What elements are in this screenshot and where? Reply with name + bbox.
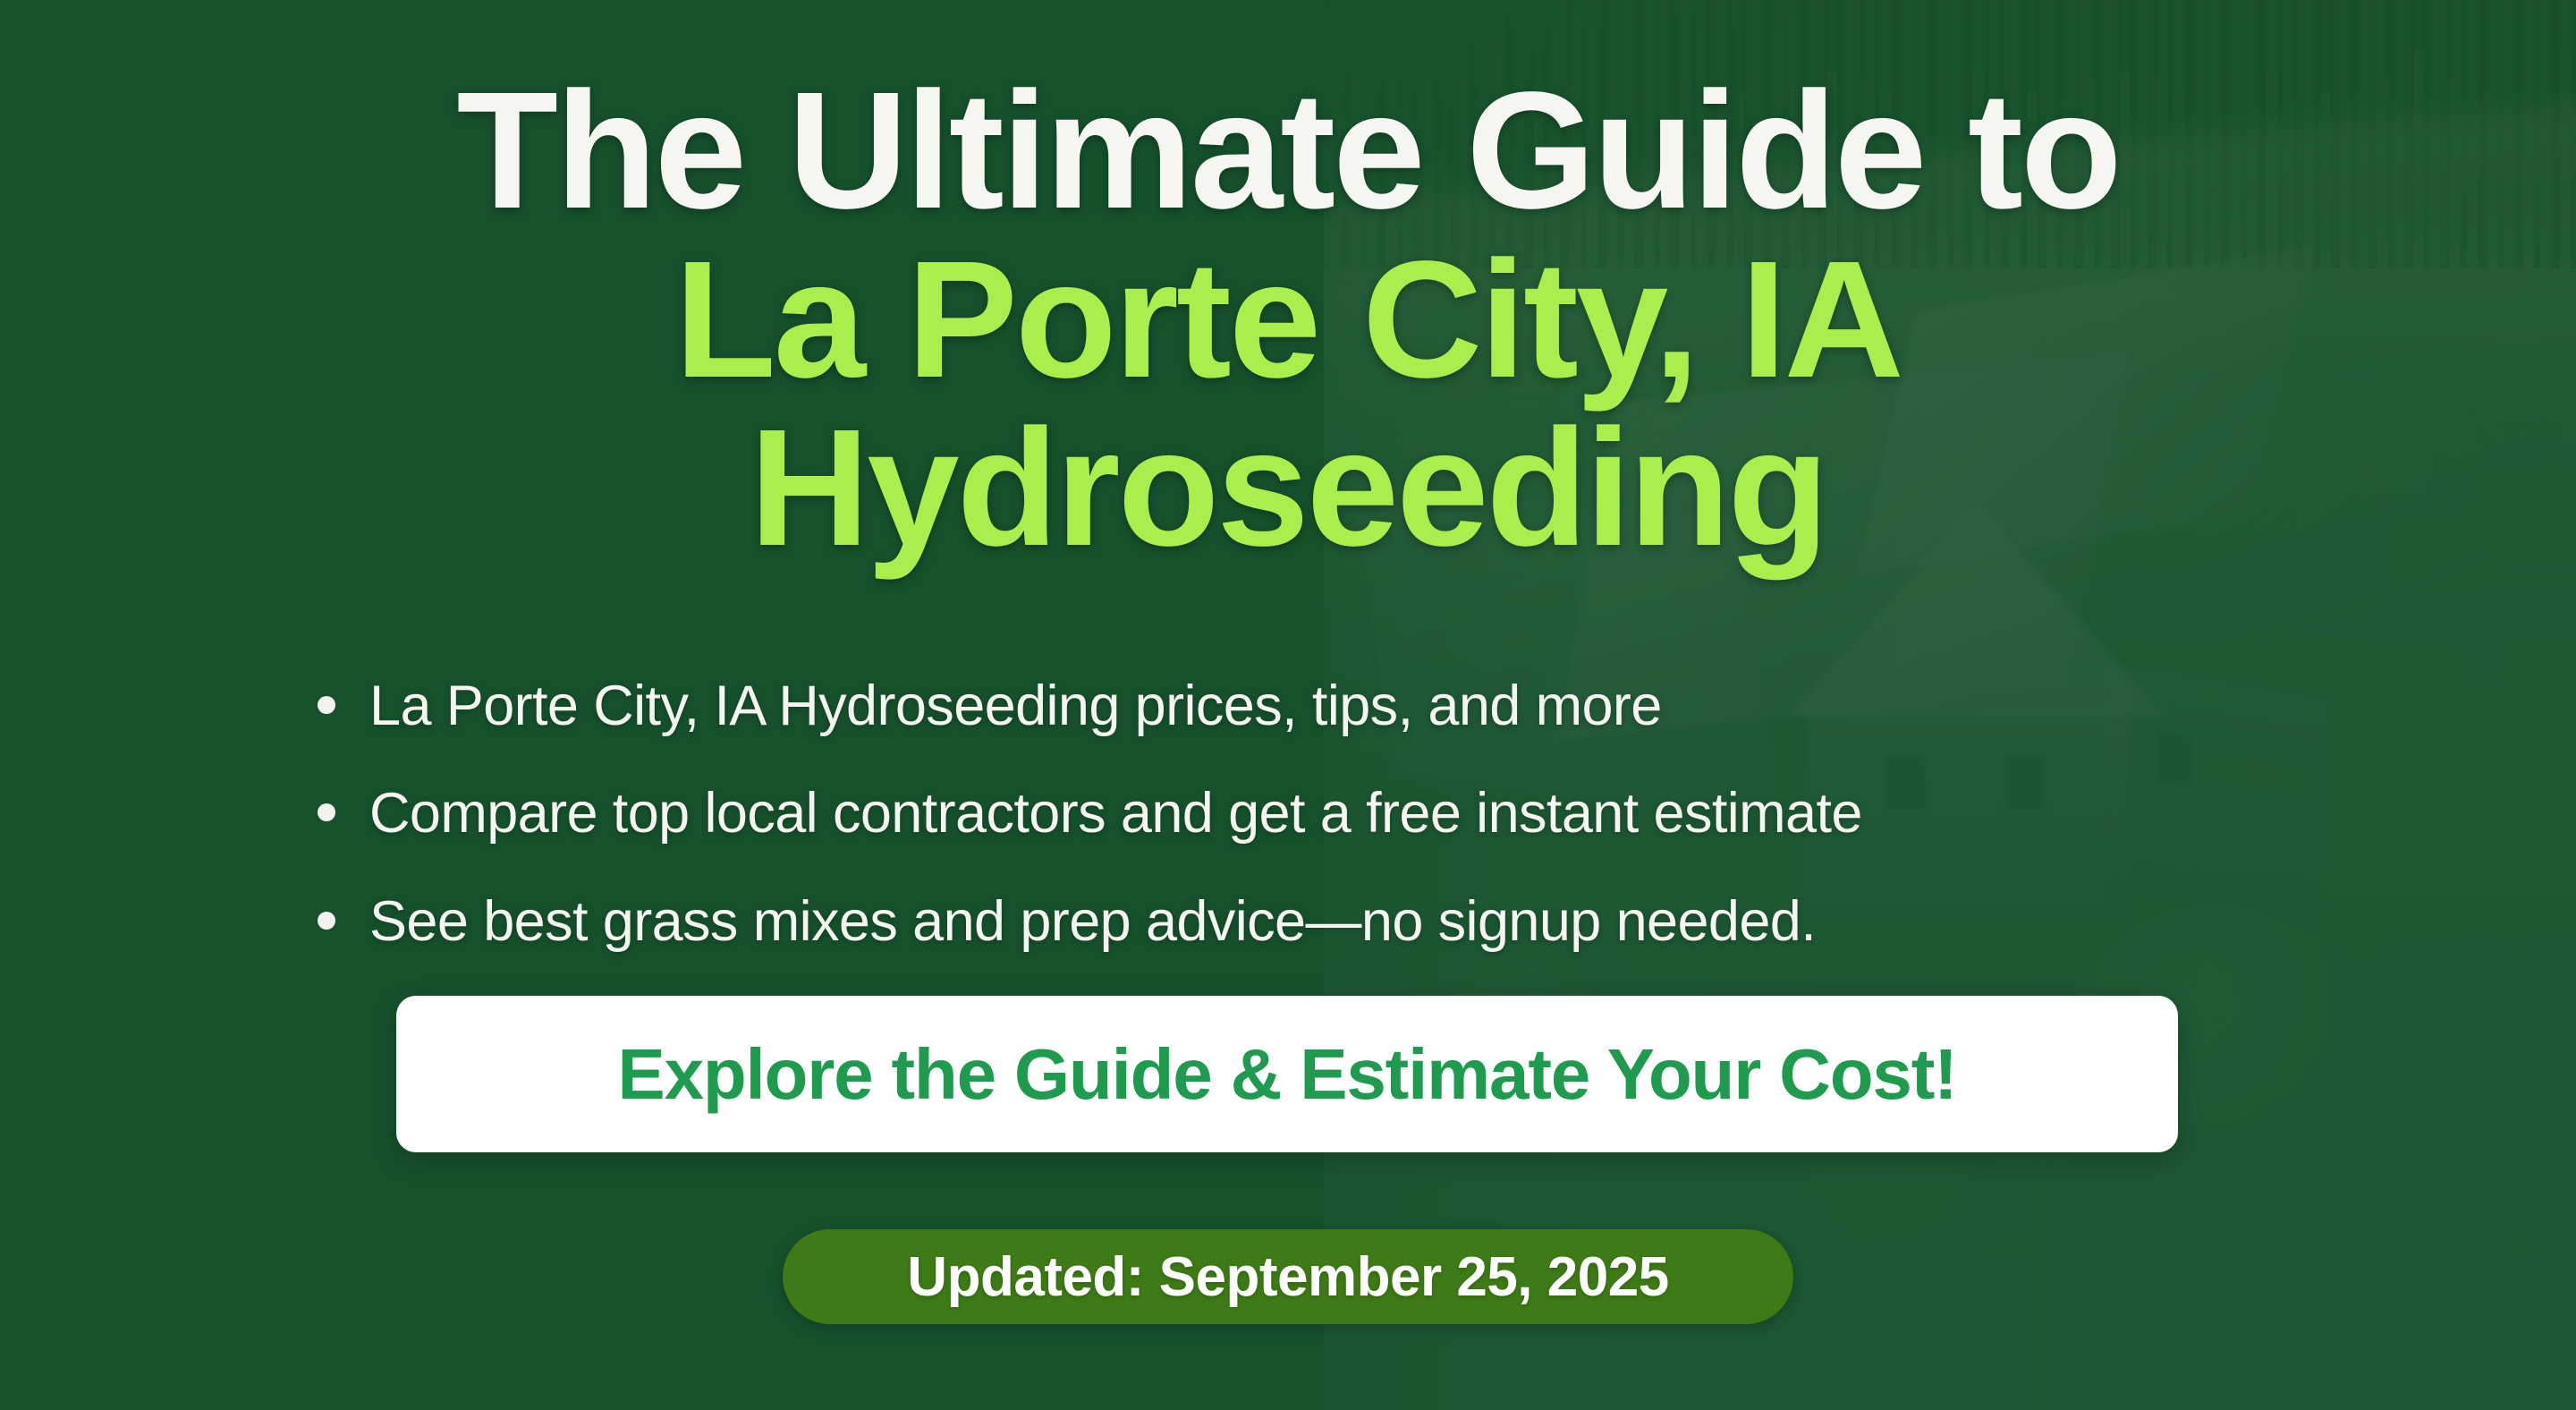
updated-date-badge: Updated: September 25, 2025 (783, 1229, 1793, 1324)
list-item: La Porte City, IA Hydroseeding prices, t… (318, 673, 1862, 739)
list-item: Compare top local contractors and get a … (318, 780, 1862, 846)
title-line-accent: La Porte City, IA Hydroseeding (563, 236, 2012, 573)
bullet-dot-icon (318, 912, 335, 930)
list-item-label: La Porte City, IA Hydroseeding prices, t… (369, 673, 1662, 739)
page-title: The Ultimate Guide to La Porte City, IA … (0, 66, 2576, 572)
cta-button-label: Explore the Guide & Estimate Your Cost! (617, 1033, 1956, 1116)
updated-date-label: Updated: September 25, 2025 (907, 1245, 1668, 1309)
title-line-primary: The Ultimate Guide to (0, 66, 2576, 236)
explore-guide-cta-button[interactable]: Explore the Guide & Estimate Your Cost! (396, 996, 2178, 1152)
list-item-label: See best grass mixes and prep advice—no … (369, 888, 1816, 955)
bullet-dot-icon (318, 696, 335, 714)
list-item-label: Compare top local contractors and get a … (369, 780, 1862, 846)
hero-banner: The Ultimate Guide to La Porte City, IA … (0, 0, 2576, 1410)
bullet-dot-icon (318, 803, 335, 821)
benefit-list: La Porte City, IA Hydroseeding prices, t… (318, 673, 1862, 996)
list-item: See best grass mixes and prep advice—no … (318, 888, 1862, 955)
hero-content: The Ultimate Guide to La Porte City, IA … (0, 0, 2576, 1410)
